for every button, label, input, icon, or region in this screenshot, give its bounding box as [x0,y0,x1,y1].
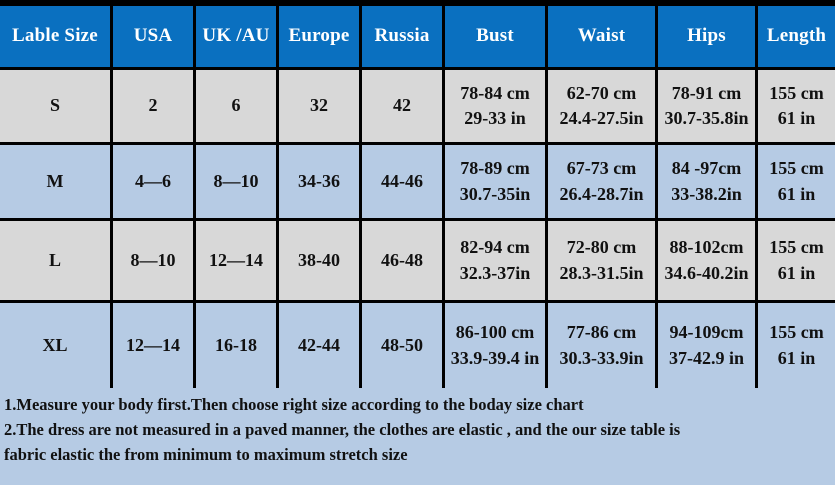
cell-bust: 78-89 cm 30.7-35in [445,145,545,218]
cell-hips: 88-102cm 34.6-40.2in [658,221,755,300]
cell-length: 155 cm 61 in [758,303,835,388]
column-header-length: Length [758,6,835,67]
table-header-row: Lable Size USA UK /AU Europe Russia Bust… [0,0,835,67]
cell-hips: 84 -97cm 33-38.2in [658,145,755,218]
column-header-europe: Europe [279,6,359,67]
cell-uk-au: 16-18 [196,303,276,388]
size-notes: 1.Measure your body first.Then choose ri… [0,388,835,485]
cell-length: 155 cm 61 in [758,145,835,218]
cell-waist: 67-73 cm 26.4-28.7in [548,145,655,218]
cell-usa: 12—14 [113,303,193,388]
cell-usa: 2 [113,70,193,142]
cell-europe: 38-40 [279,221,359,300]
cell-waist: 72-80 cm 28.3-31.5in [548,221,655,300]
cell-russia: 42 [362,70,442,142]
cell-russia: 44-46 [362,145,442,218]
cell-size: M [0,145,110,218]
cell-usa: 4—6 [113,145,193,218]
note-line-3: fabric elastic the from minimum to maxim… [4,442,835,467]
column-header-uk-au: UK /AU [196,6,276,67]
cell-europe: 42-44 [279,303,359,388]
cell-size: XL [0,303,110,388]
cell-length: 155 cm 61 in [758,70,835,142]
column-header-russia: Russia [362,6,442,67]
column-header-hips: Hips [658,6,755,67]
cell-europe: 32 [279,70,359,142]
cell-size: L [0,221,110,300]
cell-usa: 8—10 [113,221,193,300]
size-chart: Lable Size USA UK /AU Europe Russia Bust… [0,0,835,485]
cell-uk-au: 6 [196,70,276,142]
cell-waist: 62-70 cm 24.4-27.5in [548,70,655,142]
column-header-bust: Bust [445,6,545,67]
cell-uk-au: 12—14 [196,221,276,300]
cell-bust: 82-94 cm 32.3-37in [445,221,545,300]
cell-uk-au: 8—10 [196,145,276,218]
table-row: S 2 6 32 42 78-84 cm 29-33 in 62-70 cm 2… [0,67,835,142]
cell-hips: 78-91 cm 30.7-35.8in [658,70,755,142]
cell-bust: 78-84 cm 29-33 in [445,70,545,142]
cell-russia: 48-50 [362,303,442,388]
table-row: XL 12—14 16-18 42-44 48-50 86-100 cm 33.… [0,300,835,388]
cell-bust: 86-100 cm 33.9-39.4 in [445,303,545,388]
column-header-usa: USA [113,6,193,67]
column-header-waist: Waist [548,6,655,67]
cell-waist: 77-86 cm 30.3-33.9in [548,303,655,388]
cell-length: 155 cm 61 in [758,221,835,300]
cell-europe: 34-36 [279,145,359,218]
cell-size: S [0,70,110,142]
note-line-2: 2.The dress are not measured in a paved … [4,417,835,442]
table-row: M 4—6 8—10 34-36 44-46 78-89 cm 30.7-35i… [0,142,835,218]
note-line-1: 1.Measure your body first.Then choose ri… [4,392,835,417]
cell-russia: 46-48 [362,221,442,300]
cell-hips: 94-109cm 37-42.9 in [658,303,755,388]
column-header-lable-size: Lable Size [0,6,110,67]
table-row: L 8—10 12—14 38-40 46-48 82-94 cm 32.3-3… [0,218,835,300]
